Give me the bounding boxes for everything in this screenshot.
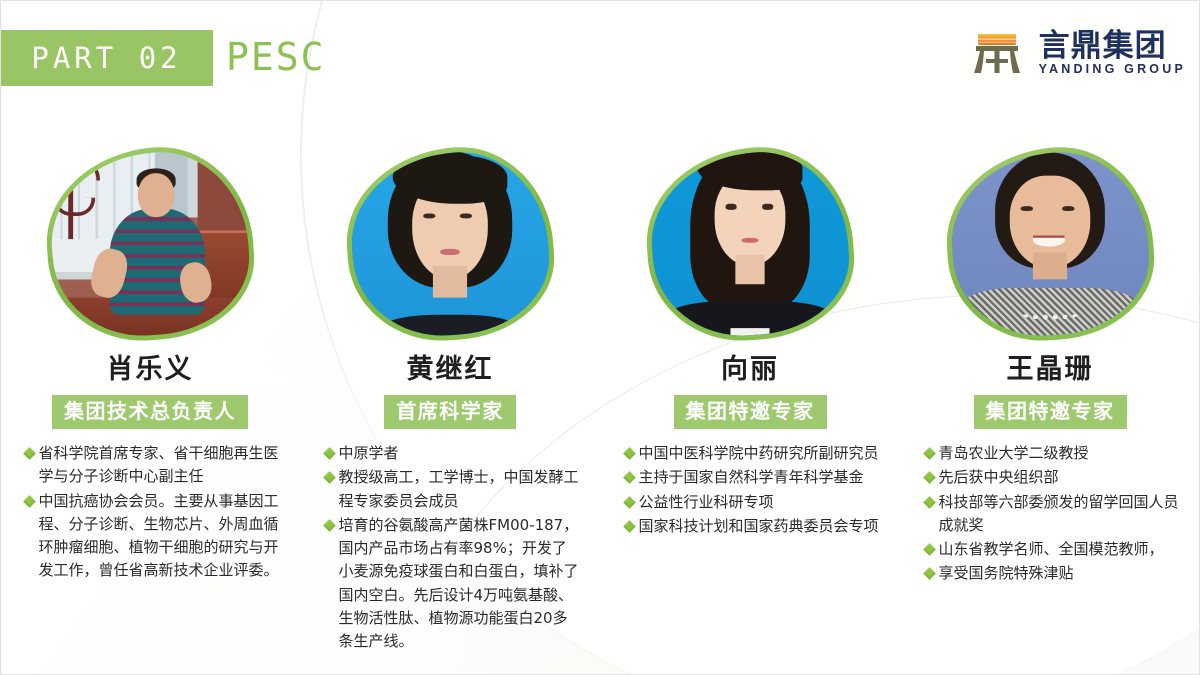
expert-title-badge: 首席科学家 — [384, 395, 516, 429]
bullet-text: 公益性行业科研专项 — [639, 491, 774, 514]
diamond-bullet-icon — [23, 495, 36, 508]
ding-vessel-icon — [966, 22, 1028, 84]
bullet-text: 中国中医科学院中药研究所副研究员 — [639, 442, 879, 465]
portrait-clip — [646, 146, 854, 341]
portrait-wang-jingshan — [947, 148, 1153, 340]
bullet-text: 青岛农业大学二级教授 — [939, 442, 1089, 465]
bullet-text: 培育的谷氨酸高产菌株FM00-187，国内产品市场占有率98%；开发了小麦源免疫… — [339, 514, 580, 654]
expert-card: 王晶珊 集团特邀专家 青岛农业大学二级教授 先后获中央组织部 科技部等六部委颁发… — [900, 140, 1200, 653]
portrait-clip — [346, 146, 554, 341]
expert-bullet-list: 省科学院首席专家、省干细胞再生医学与分子诊断中心副主任 中国抗癌协会会员。主要从… — [25, 442, 280, 583]
portrait-xiao-leyi — [47, 148, 253, 340]
expert-name: 肖乐义 — [107, 356, 194, 383]
list-item: 享受国务院特殊津贴 — [925, 562, 1180, 585]
list-item: 科技部等六部委颁发的留学回国人员成就奖 — [925, 491, 1180, 538]
diamond-bullet-icon — [923, 471, 936, 484]
expert-title-badge: 集团技术总负责人 — [52, 395, 248, 429]
expert-name: 王晶珊 — [1007, 356, 1094, 383]
list-item: 公益性行业科研专项 — [625, 491, 880, 514]
portrait-photo — [346, 146, 554, 341]
bullet-text: 教授级高工，工学博士，中国发酵工程专家委员会成员 — [339, 466, 580, 513]
diamond-bullet-icon — [923, 567, 936, 580]
bullet-text: 中原学者 — [339, 442, 399, 465]
expert-name: 向丽 — [721, 356, 779, 383]
diamond-bullet-icon — [923, 496, 936, 509]
diamond-bullet-icon — [623, 496, 636, 509]
list-item: 国家科技计划和国家药典委员会专项 — [625, 515, 880, 538]
logo-chinese-name: 言鼎集团 — [1039, 30, 1186, 61]
part-number-bar: PART 02 — [0, 30, 213, 86]
bullet-text: 先后获中央组织部 — [939, 466, 1059, 489]
portrait-clip — [46, 146, 254, 341]
list-item: 中原学者 — [325, 442, 580, 465]
diamond-bullet-icon — [623, 447, 636, 460]
bullet-text: 中国抗癌协会会员。主要从事基因工程、分子诊断、生物芯片、外周血循环肿瘤细胞、植物… — [39, 490, 280, 583]
expert-title-badge: 集团特邀专家 — [674, 395, 827, 429]
logo-english-name: YANDING GROUP — [1039, 63, 1186, 76]
diamond-bullet-icon — [923, 447, 936, 460]
expert-cards-row: 肖乐义 集团技术总负责人 省科学院首席专家、省干细胞再生医学与分子诊断中心副主任… — [0, 140, 1200, 653]
list-item: 中国抗癌协会会员。主要从事基因工程、分子诊断、生物芯片、外周血循环肿瘤细胞、植物… — [25, 490, 280, 583]
diamond-bullet-icon — [323, 519, 336, 532]
portrait-photo — [646, 146, 854, 341]
logo-text-block: 言鼎集团 YANDING GROUP — [1039, 30, 1186, 76]
list-item: 先后获中央组织部 — [925, 466, 1180, 489]
bullet-text: 山东省教学名师、全国模范教师， — [939, 538, 1164, 561]
list-item: 青岛农业大学二级教授 — [925, 442, 1180, 465]
diamond-bullet-icon — [623, 471, 636, 484]
company-logo: 言鼎集团 YANDING GROUP — [966, 22, 1186, 84]
diamond-bullet-icon — [323, 471, 336, 484]
expert-bullet-list: 青岛农业大学二级教授 先后获中央组织部 科技部等六部委颁发的留学回国人员成就奖 … — [925, 442, 1180, 586]
list-item: 教授级高工，工学博士，中国发酵工程专家委员会成员 — [325, 466, 580, 513]
list-item: 主持于国家自然科学青年科学基金 — [625, 466, 880, 489]
expert-bullet-list: 中原学者 教授级高工，工学博士，中国发酵工程专家委员会成员 培育的谷氨酸高产菌株… — [325, 442, 580, 653]
bullet-text: 享受国务院特殊津贴 — [939, 562, 1074, 585]
bullet-text: 主持于国家自然科学青年科学基金 — [639, 466, 864, 489]
section-title: PESC — [226, 28, 326, 86]
expert-bullet-list: 中国中医科学院中药研究所副研究员 主持于国家自然科学青年科学基金 公益性行业科研… — [625, 442, 880, 538]
diamond-bullet-icon — [323, 447, 336, 460]
list-item: 中国中医科学院中药研究所副研究员 — [625, 442, 880, 465]
expert-title-badge: 集团特邀专家 — [974, 395, 1127, 429]
portrait-huang-jihong — [347, 148, 553, 340]
expert-card: 肖乐义 集团技术总负责人 省科学院首席专家、省干细胞再生医学与分子诊断中心副主任… — [0, 140, 300, 653]
list-item: 培育的谷氨酸高产菌株FM00-187，国内产品市场占有率98%；开发了小麦源免疫… — [325, 514, 580, 654]
part-number-label: PART 02 — [31, 41, 181, 75]
diamond-bullet-icon — [623, 520, 636, 533]
portrait-photo — [46, 146, 254, 341]
expert-card: 黄继红 首席科学家 中原学者 教授级高工，工学博士，中国发酵工程专家委员会成员 … — [300, 140, 600, 653]
expert-card: 向丽 集团特邀专家 中国中医科学院中药研究所副研究员 主持于国家自然科学青年科学… — [600, 140, 900, 653]
portrait-clip — [946, 146, 1154, 341]
bullet-text: 国家科技计划和国家药典委员会专项 — [639, 515, 879, 538]
diamond-bullet-icon — [23, 447, 36, 460]
portrait-xiang-li — [647, 148, 853, 340]
list-item: 山东省教学名师、全国模范教师， — [925, 538, 1180, 561]
portrait-photo — [946, 146, 1154, 341]
diamond-bullet-icon — [923, 543, 936, 556]
bullet-text: 科技部等六部委颁发的留学回国人员成就奖 — [939, 491, 1180, 538]
expert-name: 黄继红 — [407, 356, 494, 383]
bullet-text: 省科学院首席专家、省干细胞再生医学与分子诊断中心副主任 — [39, 442, 280, 489]
list-item: 省科学院首席专家、省干细胞再生医学与分子诊断中心副主任 — [25, 442, 280, 489]
